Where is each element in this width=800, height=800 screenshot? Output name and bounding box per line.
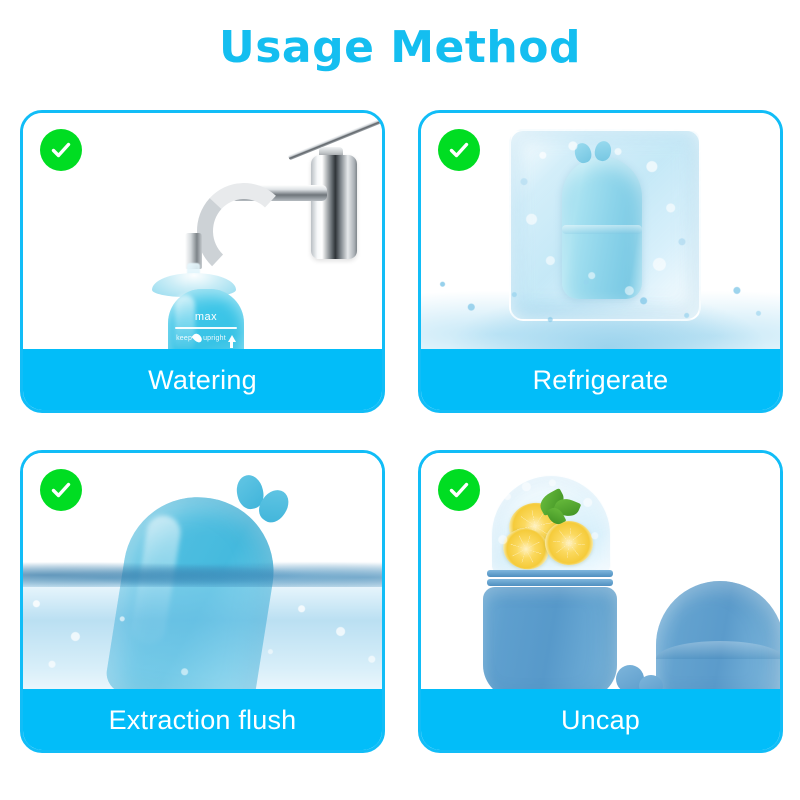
detached-cap: [656, 581, 780, 697]
usage-step-panel-uncap[interactable]: Uncap: [418, 450, 783, 753]
water-spray-droplets: [421, 253, 780, 357]
page-title: Usage Method: [0, 26, 800, 70]
roller-collar-ring: [487, 579, 613, 586]
roller-base-cup: [483, 587, 617, 697]
panel-caption-watering: Watering: [148, 365, 257, 396]
bottle-max-label: max: [175, 311, 237, 323]
usage-step-panel-refrigerate[interactable]: Refrigerate: [418, 110, 783, 413]
panel-caption-refrigerate: Refrigerate: [533, 365, 669, 396]
check-icon: [447, 138, 471, 162]
bottle-keep-label: keep: [176, 335, 192, 342]
panel-caption-bar-extraction-flush: Extraction flush: [22, 689, 383, 751]
check-icon: [49, 138, 73, 162]
panel-caption-bar-uncap: Uncap: [420, 689, 781, 751]
status-badge-check: [40, 129, 82, 171]
status-badge-check: [40, 469, 82, 511]
bottle-upright-label: upright: [203, 335, 226, 342]
panel-caption-bar-refrigerate: Refrigerate: [420, 349, 781, 411]
up-arrow-icon: [228, 335, 236, 342]
panel-caption-uncap: Uncap: [561, 705, 640, 736]
check-icon: [49, 478, 73, 502]
usage-method-panel-grid: max keep upright Watering: [20, 110, 783, 755]
bottle-keep-upright-row: keep upright: [171, 333, 241, 343]
usage-step-panel-extraction-flush[interactable]: Extraction flush: [20, 450, 385, 753]
water-bubbles: [23, 571, 382, 697]
droplet-icon: [192, 332, 204, 344]
status-badge-check: [438, 469, 480, 511]
bottle-max-line: [175, 327, 237, 329]
faucet-body: [311, 155, 357, 259]
panel-caption-bar-watering: Watering: [22, 349, 383, 411]
panel-caption-extraction-flush: Extraction flush: [109, 705, 297, 736]
check-icon: [447, 478, 471, 502]
status-badge-check: [438, 129, 480, 171]
usage-step-panel-watering[interactable]: max keep upright Watering: [20, 110, 385, 413]
roller-collar-ring: [487, 570, 613, 577]
